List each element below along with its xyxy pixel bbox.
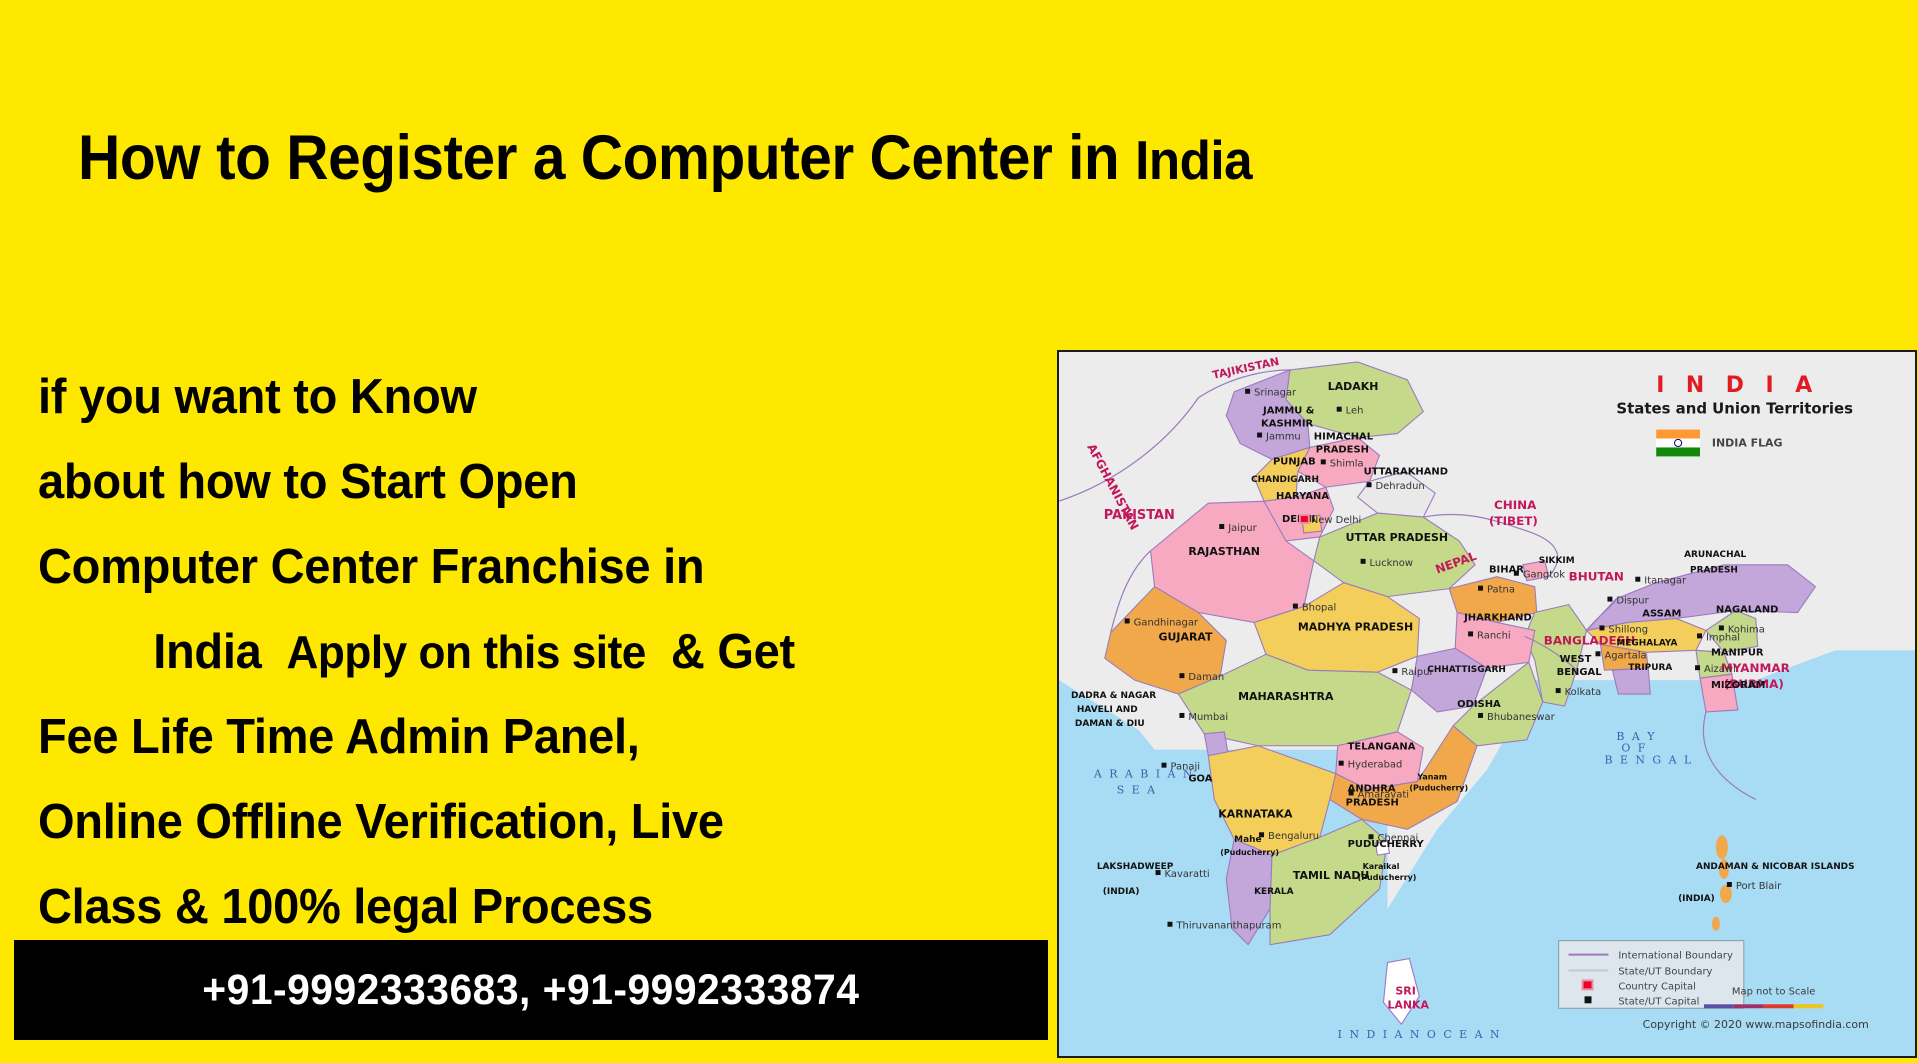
page-title: How to Register a Computer Center in Ind…	[78, 122, 1715, 194]
legend-country-capital-icon	[1583, 980, 1593, 989]
phone-numbers[interactable]: +91-9992333683, +91-9992333874	[202, 966, 859, 1015]
map-scale-note: Map not to Scale	[1732, 986, 1815, 997]
state-label-telangana: TELANGANA	[1348, 742, 1416, 753]
state-capital-marker	[1478, 713, 1483, 718]
copy-india-bold: India	[153, 625, 261, 679]
state-label-yanam: Yanam	[1416, 773, 1447, 782]
legend-state-capital-icon	[1585, 996, 1592, 1003]
copy-line-3: Computer Center Franchise in	[38, 525, 1008, 610]
country-capital-marker	[1300, 515, 1309, 523]
capital-label-bhubaneswar: Bhubaneswar	[1487, 712, 1556, 723]
state-label-goa: GOA	[1188, 774, 1212, 785]
state-label--puducherry-: (Puducherry)	[1358, 873, 1417, 882]
state-capital-marker	[1349, 791, 1354, 796]
country-label-bhutan: BHUTAN	[1569, 570, 1624, 584]
capital-label-aizawl: Aizawl	[1704, 664, 1736, 675]
capital-label-jammu: Jammu	[1265, 432, 1301, 443]
state-label-meghalaya: MEGHALAYA	[1616, 638, 1677, 648]
state-label-himachal: HIMACHAL	[1314, 432, 1374, 443]
state-capital-marker	[1259, 832, 1264, 837]
legend-label-2: Country Capital	[1618, 981, 1696, 992]
state-capital-marker	[1219, 524, 1224, 529]
capital-hyderabad: Hyderabad	[1339, 760, 1403, 771]
capital-label-bhopal: Bhopal	[1302, 603, 1336, 614]
state-label-rajasthan: RAJASTHAN	[1188, 545, 1260, 558]
state-label-haryana: HARYANA	[1276, 491, 1329, 502]
state-capital-marker	[1257, 433, 1262, 438]
state-capital-marker	[1468, 631, 1473, 636]
capital-label-srinagar: Srinagar	[1254, 388, 1297, 399]
state-capital-marker	[1369, 834, 1374, 839]
state-capital-marker	[1607, 597, 1612, 602]
capital-label-agartala: Agartala	[1604, 650, 1646, 661]
capital-label-amaravati: Amaravati	[1358, 789, 1409, 800]
copy-line-6: Online Offline Verification, Live	[38, 780, 1008, 865]
capital-thiruvananthapuram: Thiruvananthapuram	[1167, 921, 1281, 932]
state-label--puducherry-: (Puducherry)	[1409, 784, 1468, 793]
headline-tail: India	[1135, 129, 1252, 191]
state-capital-marker	[1556, 688, 1561, 693]
capital-label-panaji: Panaji	[1170, 762, 1200, 773]
state-capital-marker	[1337, 407, 1342, 412]
state-label-gujarat: GUJARAT	[1159, 630, 1213, 643]
sea-label-4: B E N G A L	[1604, 754, 1693, 767]
state-capital-marker	[1697, 633, 1702, 638]
sea-label-5: I N D I A N O C E A N	[1338, 1028, 1502, 1041]
capital-label-lucknow: Lucknow	[1370, 558, 1413, 569]
state-capital-marker	[1321, 459, 1326, 464]
copy-line-4-mixed: IndiaApply on this site& Get	[38, 610, 1008, 695]
state-label-uttar-pradesh: UTTAR PRADESH	[1346, 531, 1448, 544]
promo-copy-block: if you want to Know about how to Start O…	[38, 355, 1048, 950]
state-label-pradesh: PRADESH	[1316, 444, 1369, 455]
india-map-svg: A R A B I A NS E AB A YO FB E N G A LI N…	[1059, 352, 1915, 1056]
state-capital-marker	[1367, 482, 1372, 487]
capital-amaravati: Amaravati	[1349, 789, 1409, 800]
capital-bengaluru: Bengaluru	[1259, 831, 1319, 842]
capital-label-gangtok: Gangtok	[1523, 570, 1565, 581]
capital-bhubaneswar: Bhubaneswar	[1478, 712, 1556, 723]
country-label-pakistan: PAKISTAN	[1104, 508, 1175, 523]
country-label-lanka: LANKA	[1387, 998, 1429, 1011]
state-label-karnataka: KARNATAKA	[1218, 807, 1293, 820]
capital-port-blair: Port Blair	[1727, 881, 1782, 892]
map-copyright: Copyright © 2020 www.mapsofindia.com	[1643, 1018, 1869, 1031]
state-label-dadra-nagar: DADRA & NAGAR	[1071, 691, 1156, 701]
phone-number-bar[interactable]: +91-9992333683, +91-9992333874	[14, 940, 1048, 1040]
copy-line-2: about how to Start Open	[38, 440, 1008, 525]
state-capital-marker	[1167, 922, 1172, 927]
capital-label-mumbai: Mumbai	[1188, 712, 1228, 723]
capital-label-new-delhi: New Delhi	[1311, 515, 1361, 526]
sea-label-1: S E A	[1117, 783, 1157, 796]
state-capital-marker	[1514, 571, 1519, 576]
capital-dehradun: Dehradun	[1367, 481, 1425, 492]
state-label-punjab: PUNJAB	[1273, 456, 1316, 467]
mapsofindia-rainbow-rule	[1704, 1004, 1823, 1008]
state-label-arunachal: ARUNACHAL	[1684, 550, 1746, 560]
state-capital-marker	[1599, 625, 1604, 630]
capital-label-raipur: Raipur	[1401, 667, 1434, 678]
state-capital-marker	[1179, 673, 1184, 678]
capital-label-dispur: Dispur	[1616, 596, 1649, 607]
state-label-odisha: ODISHA	[1457, 699, 1501, 710]
capital-label-bengaluru: Bengaluru	[1268, 831, 1319, 842]
state-label-mizoram: MIZORAM	[1711, 680, 1766, 691]
apply-on-site-text[interactable]: Apply on this site	[286, 626, 645, 678]
state-label-bengal: BENGAL	[1557, 667, 1603, 678]
state-capital-marker	[1245, 389, 1250, 394]
state-label-chhattisgarh: CHHATTISGARH	[1427, 665, 1506, 675]
capital-label-gandhinagar: Gandhinagar	[1134, 617, 1199, 628]
state-label-jammu-: JAMMU &	[1262, 406, 1315, 417]
state-label-ladakh: LADAKH	[1328, 380, 1379, 393]
capital-label-shillong: Shillong	[1608, 624, 1648, 635]
state-label-jharkhand: JHARKHAND	[1463, 612, 1532, 623]
capital-label-chennai: Chennai	[1378, 833, 1419, 844]
state-label-andaman-nicobar-islands: ANDAMAN & NICOBAR ISLANDS	[1696, 862, 1855, 872]
capital-label-port-blair: Port Blair	[1736, 881, 1782, 892]
capital-label-jaipur: Jaipur	[1227, 523, 1257, 534]
country-label-sri: SRI	[1395, 984, 1415, 997]
headline-main: How to Register a Computer Center in	[78, 123, 1135, 193]
capital-kavaratti: Kavaratti	[1156, 869, 1210, 880]
capital-label-kolkata: Kolkata	[1565, 687, 1602, 698]
state-capital-marker	[1719, 625, 1724, 630]
state-capital-marker	[1695, 665, 1700, 670]
capital-label-shimla: Shimla	[1330, 458, 1364, 469]
state-capital-marker	[1339, 761, 1344, 766]
state-label--india-: (INDIA)	[1103, 887, 1140, 897]
map-subtitle: States and Union Territories	[1616, 400, 1853, 418]
state-capital-marker	[1125, 618, 1130, 623]
capital-label-hyderabad: Hyderabad	[1348, 760, 1403, 771]
copy-line-7: Class & 100% legal Process	[38, 865, 1008, 950]
state-capital-marker	[1162, 763, 1167, 768]
capital-label-imphal: Imphal	[1706, 632, 1740, 643]
capital-label-patna: Patna	[1487, 585, 1515, 596]
state-label-madhya-pradesh: MADHYA PRADESH	[1298, 620, 1413, 633]
state-capital-marker	[1478, 586, 1483, 591]
state-label-tripura: TRIPURA	[1628, 663, 1672, 673]
state-label-manipur: MANIPUR	[1711, 647, 1764, 658]
state-label-karaikal: Karaikal	[1363, 862, 1400, 871]
copy-line-1: if you want to Know	[38, 355, 1008, 440]
map-title: I N D I A	[1656, 373, 1819, 398]
state-label-sikkim: SIKKIM	[1539, 556, 1575, 566]
state-capital-marker	[1595, 651, 1600, 656]
capital-label-leh: Leh	[1346, 406, 1364, 417]
state-label-pradesh: PRADESH	[1690, 566, 1738, 576]
state-capital-marker	[1392, 668, 1397, 673]
capital-label-daman: Daman	[1188, 672, 1224, 683]
capital-label-kavaratti: Kavaratti	[1165, 869, 1210, 880]
state-capital-marker	[1361, 559, 1366, 564]
state-label-kashmir: KASHMIR	[1261, 419, 1313, 430]
state-label-chandigarh: CHANDIGARH	[1251, 475, 1319, 485]
state-label-mahe: Mahe	[1234, 835, 1261, 845]
state-capital-marker	[1156, 870, 1161, 875]
state-capital-marker	[1179, 713, 1184, 718]
capital-gandhinagar: Gandhinagar	[1125, 617, 1199, 628]
state-label-uttarakhand: UTTARAKHAND	[1364, 466, 1448, 477]
state-label-bihar: BIHAR	[1489, 565, 1524, 576]
legend-label-3: State/UT Capital	[1618, 996, 1699, 1007]
state-label-west: WEST	[1560, 654, 1592, 665]
legend-label-0: International Boundary	[1618, 951, 1733, 962]
state-capital-marker	[1727, 882, 1732, 887]
india-flag-icon	[1656, 430, 1700, 457]
state-label-maharashtra: MAHARASHTRA	[1238, 690, 1334, 703]
state-label--puducherry-: (Puducherry)	[1220, 848, 1279, 857]
state-label-daman-diu: DAMAN & DIU	[1075, 719, 1145, 729]
map-legend: International Boundary State/UT Boundary…	[1559, 941, 1744, 1009]
india-map-image: A R A B I A NS E AB A YO FB E N G A LI N…	[1057, 350, 1917, 1058]
state-capital-marker	[1293, 604, 1298, 609]
state-label--india-: (INDIA)	[1678, 894, 1715, 904]
state-label-kerala: KERALA	[1254, 887, 1294, 897]
copy-line-5: Fee Life Time Admin Panel,	[38, 695, 1008, 780]
capital-label-thiruvananthapuram: Thiruvananthapuram	[1175, 921, 1281, 932]
country-label--tibet-: (TIBET)	[1489, 514, 1538, 528]
india-flag-label: INDIA FLAG	[1712, 436, 1783, 449]
capital-label-ranchi: Ranchi	[1477, 630, 1511, 641]
state-label-assam: ASSAM	[1642, 609, 1681, 620]
state-label-lakshadweep: LAKSHADWEEP	[1097, 862, 1174, 872]
country-label-china: CHINA	[1494, 498, 1537, 512]
legend-label-1: State/UT Boundary	[1618, 966, 1712, 977]
capital-label-itanagar: Itanagar	[1644, 576, 1687, 587]
state-label-nagaland: NAGALAND	[1716, 605, 1778, 616]
copy-and-get-bold: & Get	[671, 625, 795, 679]
state-label-haveli-and: HAVELI AND	[1077, 705, 1138, 715]
state-capital-marker	[1635, 577, 1640, 582]
capital-label-dehradun: Dehradun	[1376, 481, 1425, 492]
